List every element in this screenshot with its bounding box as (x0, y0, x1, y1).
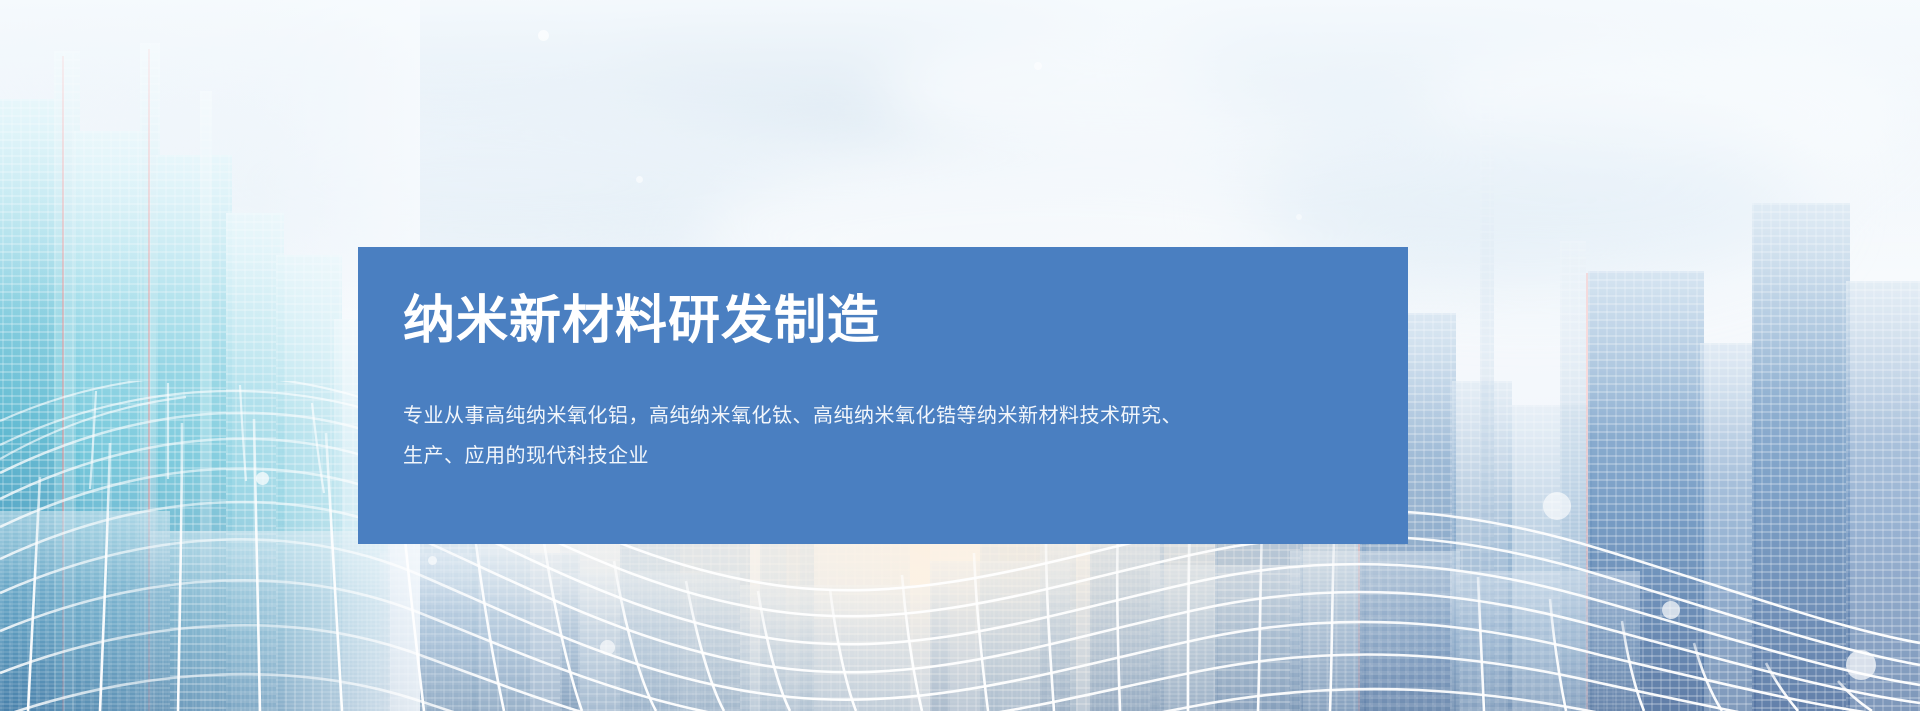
page-title: 纳米新材料研发制造 (403, 292, 1360, 350)
hero-banner: 纳米新材料研发制造 专业从事高纯纳米氧化铝，高纯纳米氧化钛、高纯纳米氧化锆等纳米… (0, 0, 1920, 711)
hero-text-panel: 纳米新材料研发制造 专业从事高纯纳米氧化铝，高纯纳米氧化钛、高纯纳米氧化锆等纳米… (358, 247, 1408, 544)
page-subtitle: 专业从事高纯纳米氧化铝，高纯纳米氧化钛、高纯纳米氧化锆等纳米新材料技术研究、 生… (403, 396, 1360, 476)
subtitle-line-2: 生产、应用的现代科技企业 (403, 436, 1360, 476)
subtitle-line-1: 专业从事高纯纳米氧化铝，高纯纳米氧化钛、高纯纳米氧化锆等纳米新材料技术研究、 (403, 396, 1360, 436)
